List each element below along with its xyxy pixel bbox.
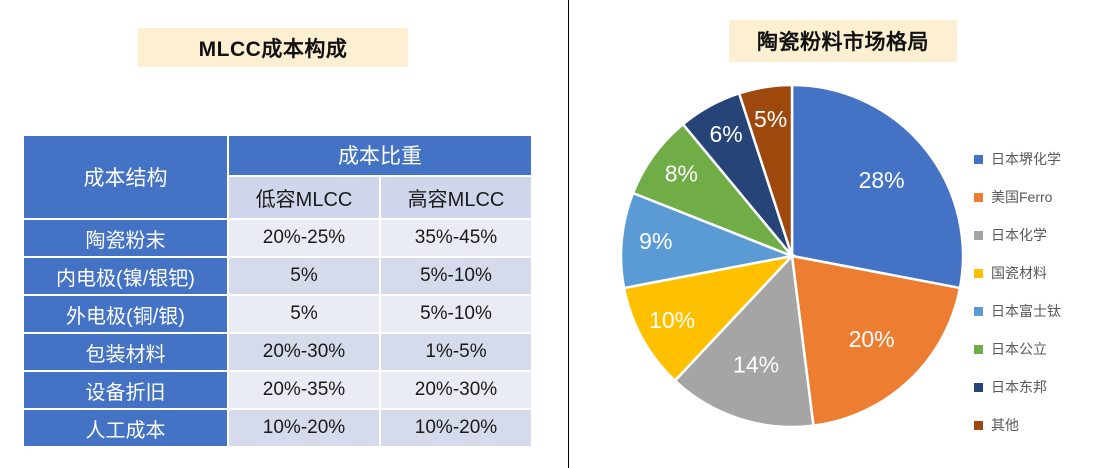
legend-item[interactable]: 其他 [974, 406, 1109, 444]
sub-header-high-cap: 高容MLCC [381, 177, 531, 218]
row-value-high: 5%-10% [381, 296, 531, 332]
legend-label: 日本东邦 [991, 377, 1047, 397]
sub-header-low-cap: 低容MLCC [229, 177, 379, 218]
pie-slice-label: 8% [665, 161, 698, 187]
row-value-high: 5%-10% [381, 258, 531, 294]
legend-label: 日本富士钛 [991, 301, 1061, 321]
legend-swatch-icon [974, 231, 983, 240]
row-label: 内电极(镍/银钯) [24, 258, 227, 294]
row-value-low: 20%-35% [229, 372, 379, 408]
legend-swatch-icon [974, 383, 983, 392]
left-panel: MLCC成本构成 成本结构 成本比重 低容MLCC 高容MLCC 陶瓷粉末 20… [0, 0, 568, 468]
row-value-low: 5% [229, 296, 379, 332]
legend-item[interactable]: 日本堺化学 [974, 140, 1109, 178]
left-panel-title: MLCC成本构成 [138, 28, 408, 67]
legend-label: 日本化学 [991, 225, 1047, 245]
pie-chart-svg: 28%20%14%10%9%8%6%5% [619, 83, 965, 429]
pie-slice-label: 9% [639, 228, 672, 254]
pie-slice-label: 14% [733, 352, 779, 378]
slide-root: MLCC成本构成 成本结构 成本比重 低容MLCC 高容MLCC 陶瓷粉末 20… [0, 0, 1114, 468]
pie-slice-label: 28% [859, 167, 905, 193]
table-row: 人工成本 10%-20% 10%-20% [24, 410, 531, 446]
row-value-low: 10%-20% [229, 410, 379, 446]
header-cost-structure: 成本结构 [24, 136, 227, 218]
legend-item[interactable]: 国瓷材料 [974, 254, 1109, 292]
table-row: 外电极(铜/银) 5% 5%-10% [24, 296, 531, 332]
row-value-low: 20%-25% [229, 220, 379, 256]
legend-label: 日本堺化学 [991, 149, 1061, 169]
row-label: 包装材料 [24, 334, 227, 370]
row-label: 人工成本 [24, 410, 227, 446]
legend-swatch-icon [974, 155, 983, 164]
pie-chart: 28%20%14%10%9%8%6%5% [619, 83, 965, 429]
legend-label: 美国Ferro [991, 187, 1052, 207]
legend-swatch-icon [974, 345, 983, 354]
pie-slice-group [621, 85, 963, 427]
row-label: 陶瓷粉末 [24, 220, 227, 256]
legend-label: 国瓷材料 [991, 263, 1047, 283]
header-cost-ratio: 成本比重 [229, 136, 531, 175]
pie-slice-label: 5% [754, 106, 787, 132]
table-row: 设备折旧 20%-35% 20%-30% [24, 372, 531, 408]
row-value-low: 20%-30% [229, 334, 379, 370]
table-header-row-1: 成本结构 成本比重 [24, 136, 531, 175]
cost-structure-table: 成本结构 成本比重 低容MLCC 高容MLCC 陶瓷粉末 20%-25% 35%… [22, 134, 533, 448]
legend-item[interactable]: 日本富士钛 [974, 292, 1109, 330]
pie-slice-label: 20% [849, 326, 895, 352]
legend-swatch-icon [974, 421, 983, 430]
cost-table-body: 成本结构 成本比重 低容MLCC 高容MLCC 陶瓷粉末 20%-25% 35%… [24, 136, 531, 446]
row-value-high: 35%-45% [381, 220, 531, 256]
legend-item[interactable]: 日本东邦 [974, 368, 1109, 406]
row-value-high: 1%-5% [381, 334, 531, 370]
chart-legend: 日本堺化学美国Ferro日本化学国瓷材料日本富士钛日本公立日本东邦其他 [974, 140, 1109, 444]
pie-slice-label: 10% [649, 307, 695, 333]
right-panel: 陶瓷粉料市场格局 28%20%14%10%9%8%6%5% 日本堺化学美国Fer… [569, 0, 1114, 468]
legend-label: 日本公立 [991, 339, 1047, 359]
legend-swatch-icon [974, 307, 983, 316]
legend-item[interactable]: 美国Ferro [974, 178, 1109, 216]
table-row: 内电极(镍/银钯) 5% 5%-10% [24, 258, 531, 294]
row-value-low: 5% [229, 258, 379, 294]
table-row: 包装材料 20%-30% 1%-5% [24, 334, 531, 370]
row-label: 外电极(铜/银) [24, 296, 227, 332]
row-value-high: 10%-20% [381, 410, 531, 446]
legend-item[interactable]: 日本公立 [974, 330, 1109, 368]
legend-swatch-icon [974, 269, 983, 278]
row-value-high: 20%-30% [381, 372, 531, 408]
table-row: 陶瓷粉末 20%-25% 35%-45% [24, 220, 531, 256]
legend-label: 其他 [991, 415, 1019, 435]
pie-slice-label: 6% [709, 121, 742, 147]
legend-swatch-icon [974, 193, 983, 202]
right-panel-title: 陶瓷粉料市场格局 [729, 20, 957, 62]
row-label: 设备折旧 [24, 372, 227, 408]
legend-item[interactable]: 日本化学 [974, 216, 1109, 254]
